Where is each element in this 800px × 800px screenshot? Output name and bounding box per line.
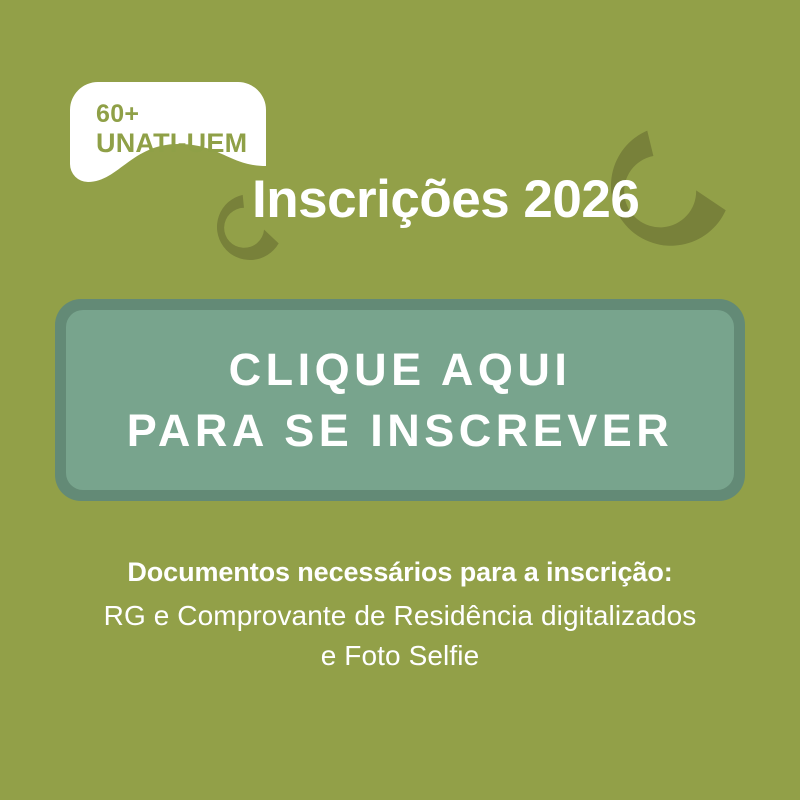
required-documents-block: Documentos necessários para a inscrição:…: [0, 556, 800, 677]
logo-line-2: UNATI-UEM: [96, 130, 256, 157]
page-title: Inscrições 2026: [252, 173, 639, 226]
enroll-cta-button[interactable]: CLIQUE AQUI PARA SE INSCREVER: [55, 299, 745, 501]
logo-line-1: 60+: [96, 102, 256, 127]
enroll-cta-inner[interactable]: CLIQUE AQUI PARA SE INSCREVER: [66, 310, 734, 490]
logo-text: 60+ UNATI-UEM: [96, 102, 256, 157]
promo-poster: 60+ UNATI-UEM Inscrições 2026 CLIQUE AQU…: [0, 0, 800, 800]
logo-card: 60+ UNATI-UEM: [70, 82, 266, 197]
documents-line-2: e Foto Selfie: [0, 636, 800, 677]
documents-line-1: RG e Comprovante de Residência digitaliz…: [0, 596, 800, 637]
cta-line-1: CLIQUE AQUI: [229, 346, 572, 393]
cta-line-2: PARA SE INSCREVER: [127, 407, 674, 454]
documents-heading: Documentos necessários para a inscrição:: [0, 556, 800, 590]
